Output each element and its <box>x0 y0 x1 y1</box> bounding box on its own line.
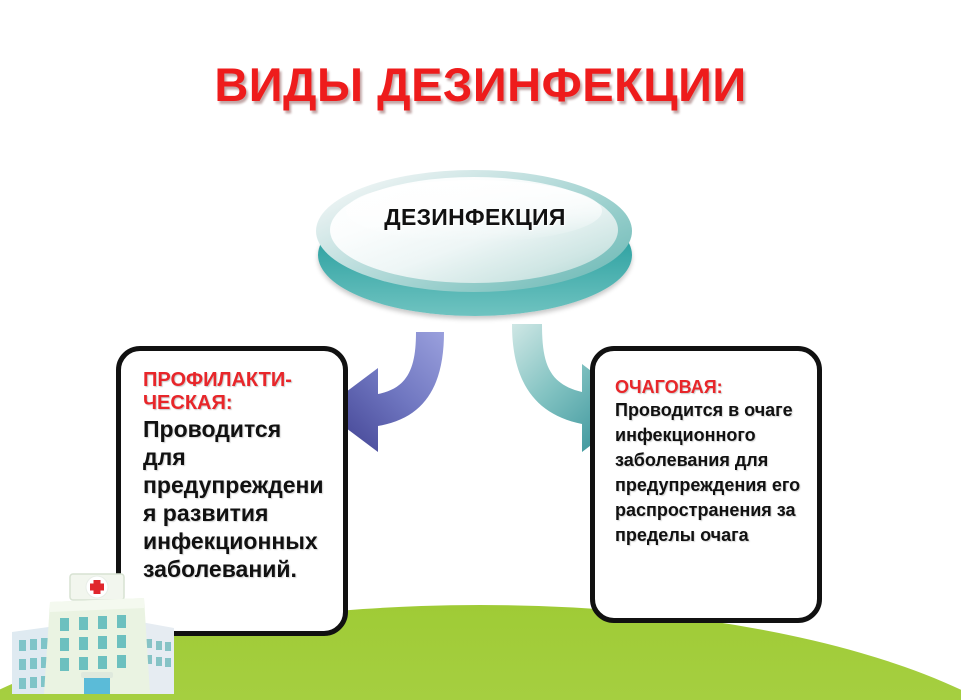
hospital-cross-sign-icon <box>70 574 124 600</box>
slide-canvas: ВИДЫ ДЕЗИНФЕКЦИИ ДЕЗИНФЕКЦИЯ <box>0 0 961 700</box>
hospital-main-building <box>44 598 150 694</box>
branch-heading-preventive: ПРОФИЛАКТИ-ЧЕСКАЯ: <box>143 369 329 415</box>
branch-heading-focal: ОЧАГОВАЯ: <box>615 377 807 398</box>
branch-box-focal[interactable]: ОЧАГОВАЯ: Проводится в очаге инфекционно… <box>590 346 822 623</box>
branch-body-focal: Проводится в очаге инфекционного заболев… <box>615 398 807 548</box>
center-node-label: ДЕЗИНФЕКЦИЯ <box>316 204 634 231</box>
page-title: ВИДЫ ДЕЗИНФЕКЦИИ <box>0 57 961 112</box>
center-node-disinfection: ДЕЗИНФЕКЦИЯ <box>316 168 634 318</box>
hospital-illustration <box>12 572 212 700</box>
branch-body-preventive: Проводится для предупреждени я развития … <box>143 415 329 583</box>
